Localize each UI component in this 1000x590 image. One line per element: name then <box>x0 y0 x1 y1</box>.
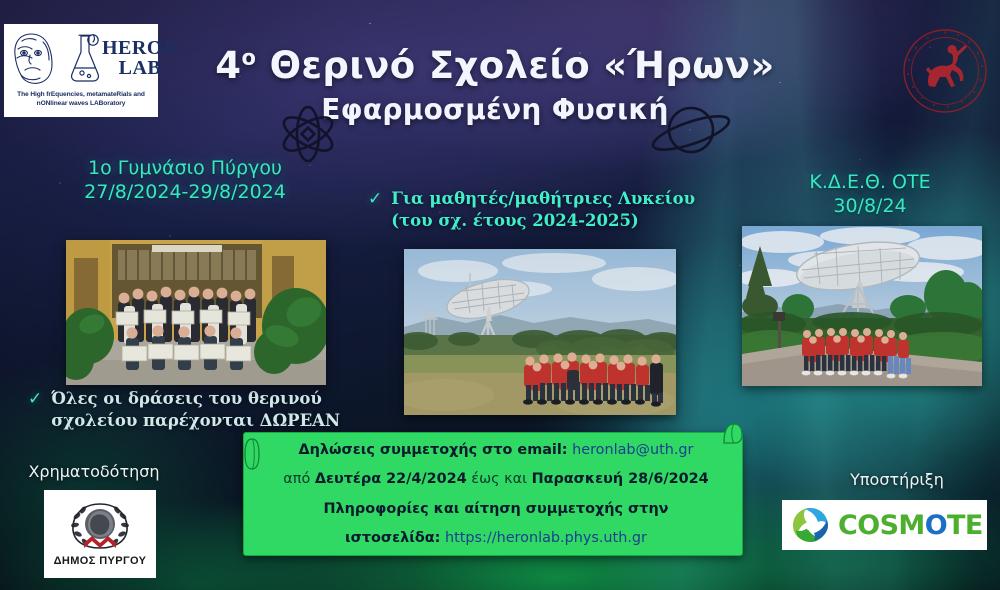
info-line-period: από Δευτέρα 22/4/2024 έως και Παρασκευή … <box>264 471 728 488</box>
venue-right-place: Κ.Δ.Ε.Θ. ΟΤΕ <box>770 170 970 194</box>
registration-info-box: Δηλώσεις συμμετοχής στο email: heronlab@… <box>243 432 743 556</box>
cosmote-logo: COSMOTE <box>782 500 987 550</box>
info-email-value[interactable]: heronlab@uth.gr <box>572 442 693 458</box>
heron-lab-tagline: The High frEquencies, metamateRials and … <box>8 91 154 109</box>
heron-face-icon <box>8 28 70 88</box>
heron-lab-logo: HERON LAB The High frEquencies, metamate… <box>4 24 158 117</box>
bullet-free-text: Όλες οι δράσεις του θερινού σχολείου παρ… <box>51 388 340 432</box>
cosmote-text-o: O <box>925 510 947 541</box>
info-website-value[interactable]: https://heronlab.phys.uth.gr <box>445 530 647 546</box>
bullet-free: ✓ Όλες οι δράσεις του θερινού σχολείου π… <box>28 388 340 432</box>
dimos-pyrgou-caption: ΔΗΜΟΣ ΠΥΡΓΟΥ <box>54 555 147 567</box>
flask-icon <box>68 32 102 84</box>
check-icon: ✓ <box>368 188 382 210</box>
dimos-pyrgou-logo: ΔΗΜΟΣ ΠΥΡΓΟΥ <box>44 490 156 578</box>
info-website-label: ιστοσελίδα: <box>345 530 440 546</box>
cosmote-text-te: TE <box>947 510 983 541</box>
info-line-more: Πληροφορίες και αίτηση συμμετοχής στην <box>264 501 728 518</box>
venue-right-dates: 30/8/24 <box>770 194 970 218</box>
page-title: 4ο Θερινό Σχολείο «Ήρων» <box>175 44 815 87</box>
scroll-curl-right-icon <box>720 421 744 447</box>
photo-radio-telescope-field <box>404 249 676 415</box>
funding-label: Χρηματοδότηση <box>14 462 174 481</box>
info-period-start-date: Δευτέρα 22/4/2024 <box>315 471 467 487</box>
bullet-free-line2: σχολείου παρέχονται ΔΩΡΕΑΝ <box>51 411 340 430</box>
title-rest: Θερινό Σχολείο «Ήρων» <box>256 44 774 87</box>
info-line-email: Δηλώσεις συμμετοχής στο email: heronlab@… <box>264 442 728 459</box>
cosmote-swirl-icon <box>791 506 830 545</box>
venue-left: 1ο Γυμνάσιο Πύργου 27/8/2024-29/8/2024 <box>40 156 330 205</box>
check-icon: ✓ <box>28 388 42 410</box>
bullet-audience-text: Για μαθητές/μαθήτριες Λυκείου (του σχ. έ… <box>391 188 695 232</box>
bullet-free-line1: Όλες οι δράσεις του θερινού <box>51 389 322 408</box>
support-label: Υποστήριξη <box>822 470 972 489</box>
photo-satellite-dish <box>742 226 982 386</box>
venue-left-place: 1ο Γυμνάσιο Πύργου <box>40 156 330 180</box>
info-period-end-date: Παρασκευή 28/6/2024 <box>532 471 709 487</box>
heron-word-lab: LAB <box>102 58 178 78</box>
info-period-until: έως και <box>471 471 527 487</box>
poster-root: HERON LAB The High frEquencies, metamate… <box>0 0 1000 590</box>
info-email-label: Δηλώσεις συμμετοχής στο email: <box>299 442 568 458</box>
bullet-audience: ✓ Για μαθητές/μαθήτριες Λυκείου (του σχ.… <box>368 188 695 232</box>
uth-centaur-seal-icon <box>902 28 988 114</box>
bullet-audience-line1: Για μαθητές/μαθήτριες Λυκείου <box>391 189 695 208</box>
heron-word-heron: HERON <box>102 38 178 58</box>
photo-award-ceremony <box>66 240 326 385</box>
saturn-planet-icon <box>648 100 734 166</box>
venue-left-dates: 27/8/2024-29/8/2024 <box>40 180 330 204</box>
title-number: 4 <box>215 44 241 87</box>
scroll-curl-left-icon <box>243 437 263 471</box>
info-line-website: ιστοσελίδα: https://heronlab.phys.uth.gr <box>264 530 728 547</box>
bullet-audience-line2: (του σχ. έτους 2024-2025) <box>391 211 639 230</box>
cosmote-text-a: COSM <box>838 510 925 541</box>
heron-lab-wordmark: HERON LAB <box>102 38 178 78</box>
cosmote-wordmark: COSMOTE <box>838 510 983 541</box>
venue-right: Κ.Δ.Ε.Θ. ΟΤΕ 30/8/24 <box>770 170 970 219</box>
dimos-pyrgou-emblem-icon <box>64 498 136 554</box>
info-period-from: από <box>283 471 310 487</box>
title-ordinal: ο <box>241 46 256 70</box>
